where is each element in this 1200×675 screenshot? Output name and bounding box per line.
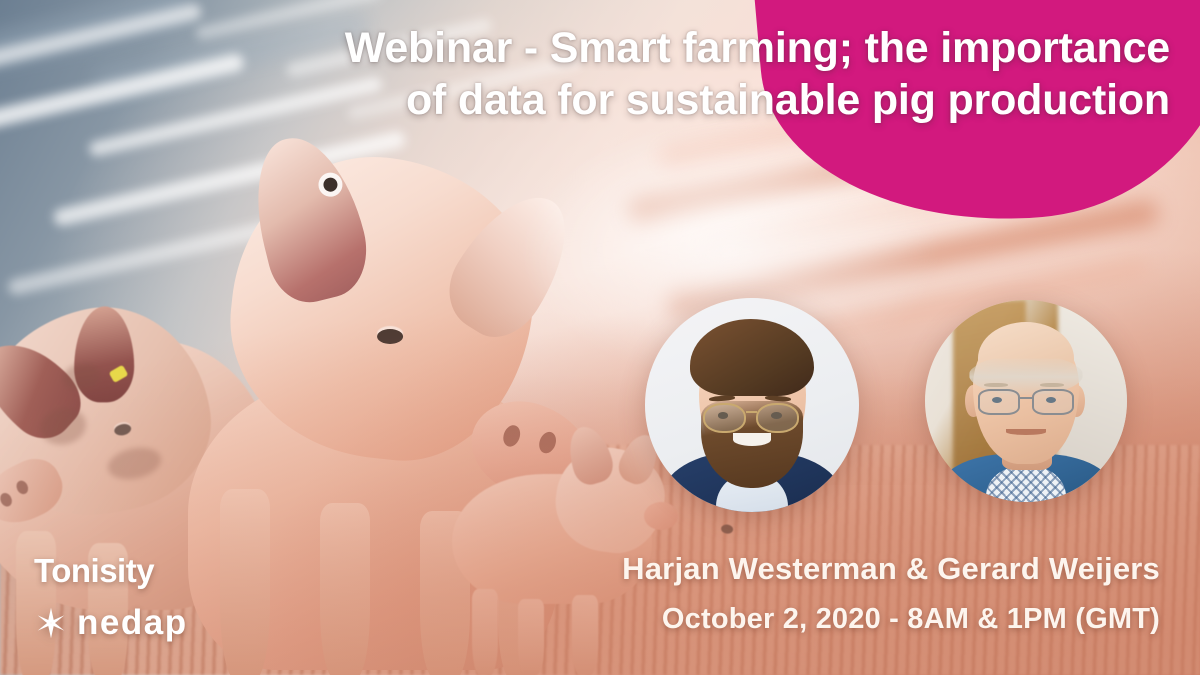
speaker-portrait-gerard-weijers — [925, 300, 1127, 502]
nedap-logo: nedap — [34, 603, 188, 643]
speaker-names: Harjan Westerman & Gerard Weijers — [622, 550, 1160, 589]
avatar — [645, 298, 859, 512]
nedap-wordmark: nedap — [77, 603, 188, 643]
glasses-icon — [978, 389, 1020, 415]
page-title: Webinar - Smart farming; the importance … — [120, 22, 1170, 127]
event-details: Harjan Westerman & Gerard Weijers Octobe… — [622, 550, 1160, 637]
glasses-icon — [703, 403, 746, 433]
speaker-portrait-harjan-westerman — [645, 298, 859, 512]
nedap-star-icon — [34, 606, 68, 640]
logo-group: Tonisity nedap — [34, 552, 188, 643]
event-datetime: October 2, 2020 - 8AM & 1PM (GMT) — [622, 601, 1160, 637]
title-line-1: Webinar - Smart farming; the importance — [120, 22, 1170, 74]
tonisity-logo: Tonisity — [34, 552, 188, 590]
webinar-banner: Webinar - Smart farming; the importance … — [0, 0, 1200, 675]
title-line-2: of data for sustainable pig production — [120, 74, 1170, 126]
avatar — [925, 300, 1127, 502]
